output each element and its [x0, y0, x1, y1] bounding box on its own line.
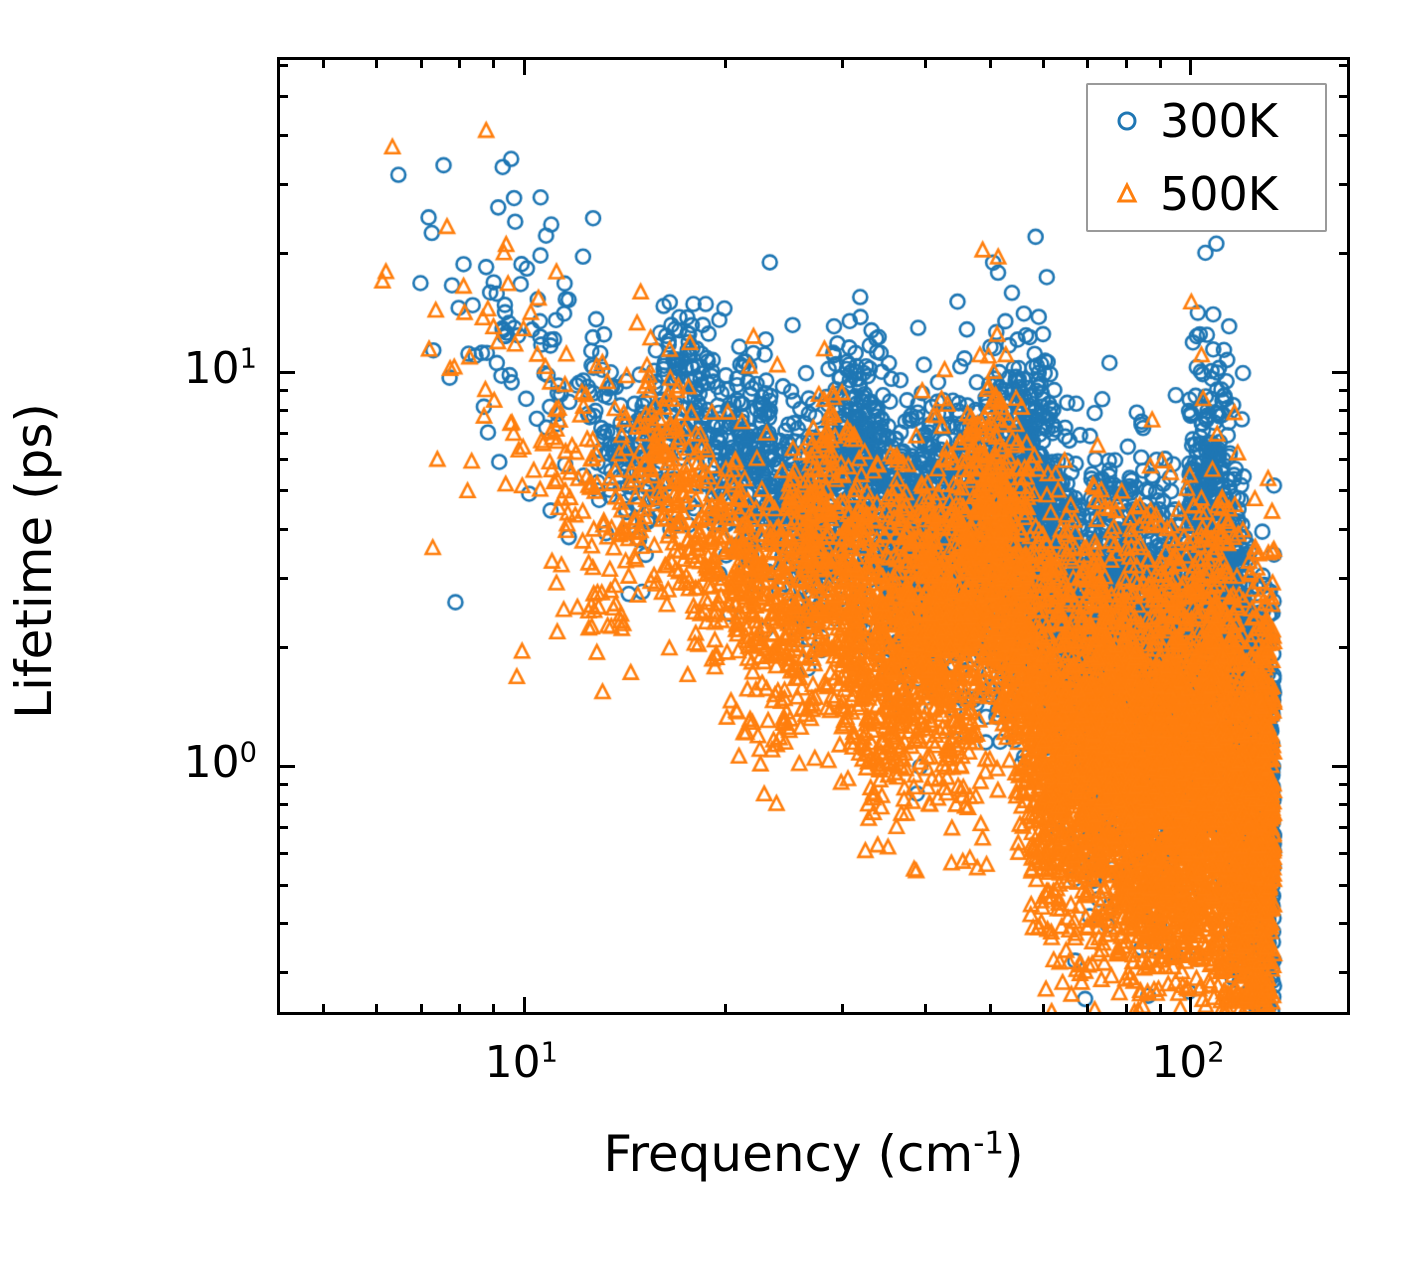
x-tick-minor-top	[492, 59, 495, 68]
legend-item-500k[interactable]: 500K	[1088, 158, 1325, 231]
y-tick-minor	[279, 95, 288, 98]
y-tick-minor-right	[1339, 922, 1348, 925]
x-axis-label-exponent: -1	[973, 1125, 1004, 1161]
x-tick-minor-top	[458, 59, 461, 68]
y-tick-label: 100	[87, 741, 257, 785]
y-tick-minor	[279, 922, 288, 925]
y-tick-minor	[279, 884, 288, 887]
x-tick-minor	[724, 1004, 727, 1013]
x-tick-minor-top	[1042, 59, 1045, 68]
y-tick-minor	[279, 389, 288, 392]
y-tick-minor-right	[1339, 458, 1348, 461]
y-tick-minor-right	[1339, 971, 1348, 974]
y-tick-minor-right	[1339, 134, 1348, 137]
x-tick-minor	[1159, 1004, 1162, 1013]
y-tick-minor	[279, 852, 288, 855]
y-tick-minor	[279, 134, 288, 137]
y-tick-minor	[279, 489, 288, 492]
x-tick-major-top	[523, 59, 526, 75]
y-tick-minor	[279, 971, 288, 974]
y-tick-minor	[279, 252, 288, 255]
y-tick-minor-right	[1339, 646, 1348, 649]
y-tick-minor	[279, 826, 288, 829]
y-tick-minor-right	[1339, 183, 1348, 186]
x-tick-label: 101	[485, 1041, 558, 1085]
legend-item-300k[interactable]: 300K	[1088, 85, 1325, 158]
y-tick-minor-right	[1339, 489, 1348, 492]
x-tick-minor	[1125, 1004, 1128, 1013]
y-tick-minor	[279, 409, 288, 412]
y-tick-minor-right	[1339, 64, 1348, 67]
x-tick-minor-top	[322, 59, 325, 68]
x-tick-minor	[924, 1004, 927, 1013]
y-tick-minor-right	[1339, 884, 1348, 887]
x-tick-minor-top	[1125, 59, 1128, 68]
x-tick-minor-top	[1159, 59, 1162, 68]
y-tick-minor-right	[1339, 95, 1348, 98]
x-tick-minor-top	[924, 59, 927, 68]
y-tick-minor	[279, 577, 288, 580]
x-tick-minor-top	[841, 59, 844, 68]
legend-triangle-icon	[1104, 180, 1150, 208]
y-tick-minor-right	[1339, 577, 1348, 580]
legend-label-500k: 500K	[1160, 171, 1278, 217]
x-axis-label-tail: )	[1004, 1125, 1024, 1183]
y-tick-minor	[279, 432, 288, 435]
y-tick-major	[279, 371, 295, 374]
y-tick-minor	[279, 183, 288, 186]
x-axis-label-text: Frequency (cm	[603, 1125, 973, 1183]
y-tick-minor-right	[1339, 252, 1348, 255]
y-tick-major	[279, 765, 295, 768]
y-tick-minor	[279, 783, 288, 786]
x-axis-label: Frequency (cm-1)	[277, 1128, 1350, 1181]
figure-scatter-phonon-lifetime: 101102100101 Frequency (cm-1) Lifetime (…	[0, 0, 1408, 1265]
y-tick-label: 101	[87, 347, 257, 391]
x-tick-minor	[1086, 1004, 1089, 1013]
x-tick-minor	[420, 1004, 423, 1013]
y-tick-minor-right	[1339, 409, 1348, 412]
y-tick-minor	[279, 64, 288, 67]
y-tick-minor-right	[1339, 803, 1348, 806]
y-tick-minor-right	[1339, 432, 1348, 435]
y-axis-label: Lifetime (ps)	[9, 261, 59, 861]
y-tick-minor	[279, 646, 288, 649]
y-tick-minor-right	[1339, 826, 1348, 829]
x-tick-minor	[375, 1004, 378, 1013]
x-tick-minor	[492, 1004, 495, 1013]
y-tick-major-right	[1332, 765, 1348, 768]
y-tick-minor	[279, 528, 288, 531]
x-tick-major	[1189, 997, 1192, 1013]
x-tick-minor-top	[724, 59, 727, 68]
x-tick-major-top	[1189, 59, 1192, 75]
x-tick-minor-top	[420, 59, 423, 68]
x-tick-label: 102	[1151, 1041, 1224, 1085]
y-tick-minor-right	[1339, 783, 1348, 786]
legend-label-300k: 300K	[1160, 98, 1278, 144]
x-tick-minor	[458, 1004, 461, 1013]
y-tick-minor	[279, 803, 288, 806]
x-tick-major	[523, 997, 526, 1013]
y-tick-minor	[279, 458, 288, 461]
y-tick-minor-right	[1339, 528, 1348, 531]
x-tick-minor-top	[1086, 59, 1089, 68]
y-tick-major-right	[1332, 371, 1348, 374]
legend: 300K 500K	[1086, 83, 1327, 232]
x-tick-minor-top	[375, 59, 378, 68]
y-tick-minor-right	[1339, 389, 1348, 392]
x-tick-minor-top	[989, 59, 992, 68]
legend-circle-icon	[1104, 107, 1150, 135]
x-tick-minor	[841, 1004, 844, 1013]
x-tick-minor	[1042, 1004, 1045, 1013]
x-tick-minor	[989, 1004, 992, 1013]
x-tick-minor	[322, 1004, 325, 1013]
y-tick-minor-right	[1339, 852, 1348, 855]
